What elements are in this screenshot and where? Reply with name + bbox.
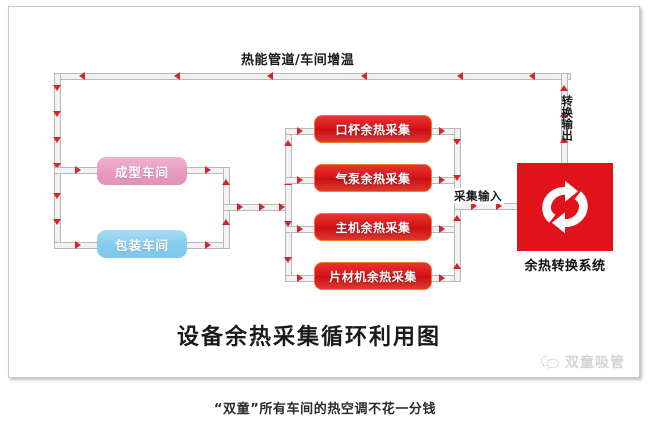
arrow-dist-up-1 — [284, 140, 292, 146]
arrow-into-main — [297, 225, 303, 233]
diagram-canvas: 热能管道/车间增温 采集输入 转换输出 成型车间 包装车间 口杯余热采集 气泵余… — [9, 7, 639, 377]
workshop-box-packing: 包装车间 — [97, 230, 187, 258]
bottom-caption: “双童”所有车间的热空调不花一分钱 — [0, 398, 650, 417]
arrow-dist-dn-2 — [284, 257, 292, 263]
arrow-packing-out — [205, 241, 211, 249]
watermark: 双童吸管 — [540, 352, 625, 372]
arrow-out-sheet — [439, 274, 445, 282]
conversion-system-square — [517, 163, 613, 251]
arrow-coll-dn-2 — [453, 175, 461, 181]
connector-top-pipe — [54, 73, 571, 80]
arrow-out-pump — [439, 176, 445, 184]
arrow-coll-up-1 — [453, 215, 461, 221]
arrow-top-6 — [529, 72, 535, 80]
arrow-into-sheet — [297, 274, 303, 282]
connector-distribution-column — [285, 128, 292, 276]
collector-box-sheet: 片材机余热采集 — [314, 262, 432, 290]
arrow-to-packing — [75, 241, 81, 249]
diagram-title: 设备余热采集循环利用图 — [159, 319, 459, 351]
conversion-system: 余热转换系统 — [517, 163, 613, 251]
arrow-coll-dn-1 — [453, 139, 461, 145]
arrow-bus-2 — [259, 203, 265, 211]
arrow-riser-1 — [222, 179, 230, 185]
conversion-system-label: 余热转换系统 — [511, 255, 619, 274]
arrow-left-6 — [53, 219, 61, 225]
watermark-text: 双童吸管 — [565, 352, 625, 372]
pipe-title-label: 热能管道/车间增温 — [241, 49, 354, 68]
arrow-top-5 — [457, 72, 463, 80]
collector-box-pump: 气泵余热采集 — [314, 164, 432, 192]
arrow-out-cup — [439, 127, 445, 135]
collector-box-cup: 口杯余热采集 — [314, 115, 432, 143]
framed-diagram-image: 热能管道/车间增温 采集输入 转换输出 成型车间 包装车间 口杯余热采集 气泵余… — [8, 6, 640, 378]
arrow-top-4 — [361, 72, 367, 80]
arrow-to-forming — [75, 166, 81, 174]
arrow-top-2 — [174, 72, 180, 80]
arrow-forming-out — [205, 166, 211, 174]
wechat-icon — [540, 354, 560, 370]
workshop-box-forming: 成型车间 — [97, 157, 187, 185]
convert-output-label: 转换输出 — [561, 95, 573, 141]
arrow-out-main — [439, 225, 445, 233]
arrow-left-3 — [53, 137, 61, 143]
arrow-top-3 — [267, 72, 273, 80]
connector-collect-input — [454, 203, 520, 210]
arrow-coll-up-2 — [453, 263, 461, 269]
arrow-bus-1 — [237, 203, 243, 211]
arrow-left-5 — [53, 193, 61, 199]
recycle-icon — [537, 179, 593, 235]
arrow-output-1 — [560, 85, 568, 91]
arrow-left-1 — [53, 85, 61, 91]
collect-input-label: 采集输入 — [452, 188, 504, 204]
arrow-into-cup — [297, 127, 303, 135]
arrow-top-1 — [79, 72, 85, 80]
arrow-left-2 — [53, 111, 61, 117]
arrow-riser-2 — [222, 219, 230, 225]
collector-box-main: 主机余热采集 — [314, 213, 432, 241]
arrow-into-pump — [297, 176, 303, 184]
